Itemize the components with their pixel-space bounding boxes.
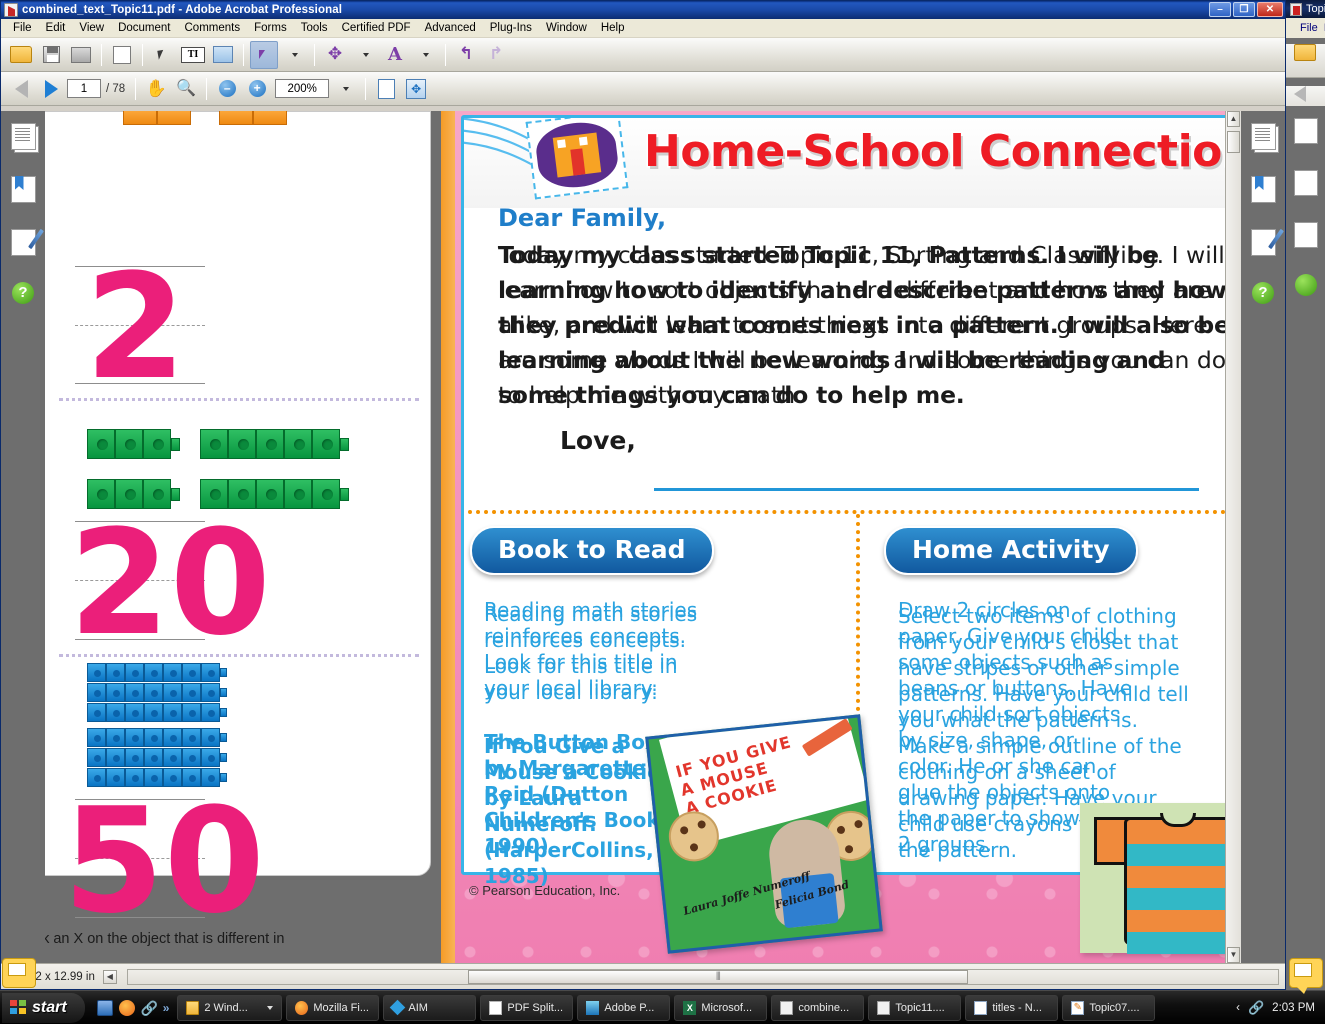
navigation-panel-rail: ?	[1, 111, 45, 963]
letter-closing: Love,	[560, 426, 636, 455]
menu-comments[interactable]: Comments	[178, 20, 248, 36]
traced-number: 50	[63, 789, 265, 934]
chevron-more-icon[interactable]: »	[163, 1002, 170, 1014]
green-cube	[312, 429, 340, 459]
blue-cube-nub	[220, 668, 227, 677]
save-button[interactable]	[37, 41, 65, 69]
document-area: ? ?	[1, 111, 1285, 963]
blue-cube	[144, 728, 163, 747]
traced-number: 2	[85, 255, 186, 400]
undo-arrow-icon: ↰	[459, 46, 473, 63]
home-activity-body: Draw 2 circles on paper. Give your child…	[884, 597, 1241, 847]
menu-advanced[interactable]: Advanced	[418, 20, 483, 36]
menu-help[interactable]: Help	[594, 20, 632, 36]
orange-cube	[219, 111, 253, 125]
page-icon	[378, 79, 395, 99]
blue-cube	[125, 683, 144, 702]
taskbar-item-label: PDF Split...	[507, 1002, 563, 1014]
green-cube	[256, 429, 284, 459]
pdf-right-page: Home-School Connection Dear Family, Toda…	[441, 111, 1241, 963]
bookmarks-panel-icon[interactable]	[11, 176, 36, 203]
zoom-level-input[interactable]	[275, 79, 329, 98]
taskbar-item-label: 2 Wind...	[204, 1002, 247, 1014]
page-title: Home-School Connection	[644, 126, 1241, 177]
blue-cube-row	[87, 683, 227, 702]
blue-cube	[163, 748, 182, 767]
blue-cube	[125, 728, 144, 747]
blue-cube-nub	[220, 733, 227, 742]
taskbar-item-label: combine...	[798, 1002, 849, 1014]
letter-paragraph-2: Today my class started Topic 11, Pattern…	[498, 238, 1240, 413]
redo-arrow-icon: ↱	[489, 46, 503, 63]
fit-page-button[interactable]: ✥	[402, 75, 430, 103]
printer-icon	[71, 47, 91, 63]
windows-flag-icon	[10, 1000, 27, 1015]
book-to-read-section: Book to Read Reading math stories reinfo…	[470, 526, 852, 847]
chevron-down-icon	[363, 53, 369, 57]
green-cube-nub	[171, 438, 180, 451]
notification-balloon[interactable]	[1289, 958, 1323, 988]
taskbar-item-pdf-split[interactable]: PDF Split...	[480, 995, 573, 1021]
orange-cube	[157, 111, 191, 125]
signatures-panel-icon[interactable]	[1294, 222, 1318, 248]
book-intro-text-2: Reading math stories reinforces concepts…	[484, 601, 724, 705]
arrow-cursor-icon	[157, 49, 168, 60]
pages-panel-icon[interactable]	[1251, 123, 1276, 150]
statusbar: 10.92 x 12.99 in ◀	[1, 963, 1285, 989]
toolbar-main[interactable]: TI ✥ A	[1, 38, 1285, 72]
orange-cube-group-2	[219, 111, 287, 125]
blue-cube	[201, 663, 220, 682]
arrow-left-icon	[15, 80, 28, 98]
chevron-down-icon	[292, 53, 298, 57]
background-menu-file[interactable]: File	[1300, 22, 1318, 34]
window-controls: – ❐ ✕	[1209, 2, 1283, 17]
blue-cube	[144, 703, 163, 722]
print-button[interactable]	[67, 41, 95, 69]
acrobat-window: combined_text_Topic11.pdf - Adobe Acroba…	[0, 0, 1286, 990]
next-page-button[interactable]	[37, 75, 65, 103]
typewriter-dropdown[interactable]	[411, 41, 439, 69]
green-cube-row-a2	[200, 429, 349, 459]
pages-panel-icon[interactable]	[1294, 118, 1318, 144]
titlebar[interactable]: combined_text_Topic11.pdf - Adobe Acroba…	[1, 1, 1285, 19]
text-select-button[interactable]: TI	[179, 41, 207, 69]
aim-icon	[390, 1000, 406, 1016]
menu-certified-pdf[interactable]: Certified PDF	[335, 20, 418, 36]
pdf-split-icon	[489, 1001, 502, 1015]
menu-file[interactable]: File	[6, 20, 39, 36]
bookmarks-panel-icon[interactable]	[1294, 170, 1318, 196]
horizontal-scroll-thumb[interactable]	[468, 970, 968, 984]
menu-plug-ins[interactable]: Plug-Ins	[483, 20, 539, 36]
select-tool-button[interactable]	[149, 41, 177, 69]
show-desktop-icon[interactable]	[97, 1000, 113, 1016]
green-cube-nub	[340, 488, 349, 501]
orange-dotted-divider-horizontal	[468, 510, 1241, 514]
menu-view[interactable]: View	[72, 20, 111, 36]
blue-cube	[163, 728, 182, 747]
orange-spine-band	[441, 111, 455, 963]
blue-cube	[125, 663, 144, 682]
taskbar-item-topic11[interactable]: Topic11....	[868, 995, 961, 1021]
green-cube	[200, 429, 228, 459]
vertical-scroll-thumb[interactable]	[1227, 131, 1240, 153]
text-select-icon: TI	[181, 47, 205, 63]
toolbar-separator	[365, 78, 366, 100]
zoom-dropdown[interactable]	[331, 75, 359, 103]
green-cube	[143, 429, 171, 459]
start-label: start	[32, 993, 67, 1023]
background-window-title: Topic	[1306, 3, 1325, 15]
toolbar-separator	[101, 44, 102, 66]
toolbar-separator	[445, 44, 446, 66]
adobe-icon	[586, 1001, 599, 1015]
book-cover-image: IF YOU GIVE A MOUSE A COOKIE	[645, 714, 883, 953]
toolbar-separator	[135, 78, 136, 100]
tshirt-illustration	[1080, 803, 1241, 953]
acrobat-icon	[1290, 3, 1302, 16]
pointer-cursor-icon	[259, 50, 269, 59]
hand-tool-button[interactable]: ✋	[142, 75, 170, 103]
blue-cube	[106, 748, 125, 767]
magnifier-icon: 🔍	[176, 80, 196, 97]
excel-icon: X	[683, 1001, 696, 1015]
firefox-icon[interactable]	[119, 1000, 135, 1016]
toolbar-separator	[314, 44, 315, 66]
taskbar-items: 2 Wind... Mozilla Fi... AIM PDF Split...…	[177, 995, 1155, 1021]
plus-icon: +	[249, 80, 266, 97]
toolbar-separator	[206, 78, 207, 100]
blue-cube	[182, 683, 201, 702]
dotted-divider	[59, 654, 419, 657]
toolbar-separator	[142, 44, 143, 66]
screen: Topic File Ed combined_text_Topic11.pdf …	[0, 0, 1325, 1024]
folder-group-icon	[186, 1001, 199, 1015]
typewriter-button[interactable]: A	[381, 41, 409, 69]
start-button[interactable]: start	[2, 993, 85, 1023]
background-window-menubar[interactable]: File Ed	[1286, 18, 1325, 38]
taskbar-item-titles[interactable]: titles - N...	[965, 995, 1058, 1021]
blue-cube	[125, 703, 144, 722]
blue-cube-row	[87, 748, 227, 767]
copyright-notice: © Pearson Education, Inc.	[469, 883, 620, 898]
home-activity-section: Home Activity Draw 2 circles on paper. G…	[884, 526, 1241, 847]
dotted-divider	[59, 398, 419, 401]
left-page-instruction: n mark an X on the object that is differ…	[45, 931, 284, 947]
book-to-read-heading: Book to Read	[470, 526, 714, 575]
background-sidebar	[1286, 106, 1325, 990]
quick-launch-bar: 🔗 »	[97, 1000, 170, 1016]
scroll-up-button[interactable]: ▲	[1227, 111, 1240, 127]
open-file-button[interactable]	[7, 41, 35, 69]
menu-document[interactable]: Document	[111, 20, 177, 36]
green-cube	[228, 429, 256, 459]
blue-cube	[125, 748, 144, 767]
green-cube	[284, 479, 312, 509]
blue-cube-row	[87, 728, 227, 747]
network-icon[interactable]: 🔗	[1248, 1000, 1264, 1016]
blue-cube	[163, 663, 182, 682]
close-button[interactable]: ✕	[1257, 2, 1283, 17]
taskbar-item-label: Microsof...	[701, 1002, 752, 1014]
taskbar-item-label: AIM	[408, 1002, 428, 1014]
green-cube	[87, 429, 115, 459]
book-to-read-body: Reading math stories reinforces concepts…	[470, 597, 852, 847]
background-window[interactable]: Topic File Ed	[1286, 0, 1325, 990]
postage-stamp-school-icon	[526, 118, 629, 199]
horizontal-scrollbar[interactable]	[127, 969, 1279, 985]
redo-button[interactable]: ↱	[482, 41, 510, 69]
tray-expand-chevron-icon[interactable]: ‹	[1236, 1002, 1240, 1014]
green-cube	[115, 429, 143, 459]
bookmarks-panel-icon[interactable]	[1251, 176, 1276, 203]
orange-cube-group-1	[123, 111, 191, 125]
help-panel-icon[interactable]	[1295, 274, 1317, 296]
pencil-edit-icon	[213, 46, 233, 63]
taskbar-item-topic07[interactable]: ✎ Topic07....	[1062, 995, 1155, 1021]
vertical-scrollbar[interactable]: ▲ ▼	[1225, 111, 1241, 963]
blue-cube	[87, 748, 106, 767]
blue-cube	[201, 683, 220, 702]
clock[interactable]: 2:03 PM	[1272, 1002, 1315, 1014]
acrobat-icon	[780, 1001, 793, 1015]
system-tray: ‹ 🔗 2:03 PM	[1236, 1000, 1325, 1016]
orange-cube	[123, 111, 157, 125]
navigation-panel-rail-right: ?	[1241, 111, 1285, 963]
taskbar-item-label: Adobe P...	[604, 1002, 654, 1014]
crop-icon	[113, 46, 131, 64]
blue-cube-nub	[220, 708, 227, 717]
blue-cube	[144, 663, 163, 682]
link-icon[interactable]: 🔗	[141, 1000, 157, 1016]
maximize-button[interactable]: ❐	[1233, 2, 1255, 17]
acrobat-icon	[4, 3, 18, 17]
hand-select-dropdown[interactable]	[280, 41, 308, 69]
notepad-icon	[974, 1001, 987, 1015]
blue-cube-row	[87, 663, 227, 682]
blue-cube	[106, 728, 125, 747]
home-activity-heading: Home Activity	[884, 526, 1138, 575]
zoom-in-button[interactable]: +	[243, 75, 271, 103]
taskbar-item-adobe[interactable]: Adobe P...	[577, 995, 670, 1021]
family-letter: Dear Family, Today my class started Topi…	[498, 204, 1240, 418]
menu-window[interactable]: Window	[539, 20, 594, 36]
blue-cube-nub	[220, 688, 227, 697]
acrobat-icon	[877, 1001, 890, 1015]
blue-cube	[106, 683, 125, 702]
signatures-panel-icon[interactable]	[1251, 229, 1276, 256]
folder-icon	[10, 46, 32, 63]
previous-page-icon[interactable]	[1294, 86, 1306, 102]
marquee-zoom-button[interactable]: 🔍	[172, 75, 200, 103]
floppy-disk-icon	[43, 46, 60, 63]
text-a-icon: A	[388, 46, 402, 64]
green-cube	[312, 479, 340, 509]
pan-and-zoom-dropdown[interactable]	[351, 41, 379, 69]
minus-icon: –	[219, 80, 236, 97]
blue-cube	[182, 748, 201, 767]
signature-line	[654, 488, 1199, 491]
firefox-icon	[295, 1001, 308, 1015]
taskbar-item-mozilla[interactable]: Mozilla Fi...	[286, 995, 379, 1021]
signatures-panel-icon[interactable]	[11, 229, 36, 256]
window-title: combined_text_Topic11.pdf - Adobe Acroba…	[22, 4, 342, 16]
blue-cube	[201, 703, 220, 722]
crop-button[interactable]	[108, 41, 136, 69]
page-number-input[interactable]	[67, 79, 101, 98]
previous-page-button[interactable]	[7, 75, 35, 103]
page-total-label: / 78	[106, 83, 125, 95]
blue-cube	[106, 703, 125, 722]
traced-number: 20	[69, 511, 271, 656]
chevron-down-icon	[423, 53, 429, 57]
green-cube	[284, 429, 312, 459]
blue-cube	[87, 703, 106, 722]
menu-forms[interactable]: Forms	[247, 20, 294, 36]
edit-document-button[interactable]	[209, 41, 237, 69]
undo-button[interactable]: ↰	[452, 41, 480, 69]
taskbar-item-label: Topic11....	[895, 1002, 944, 1014]
blue-cube	[182, 728, 201, 747]
chevron-down-icon[interactable]	[267, 1006, 273, 1010]
taskbar-item-combined[interactable]: combine...	[771, 995, 864, 1021]
blue-cube	[144, 748, 163, 767]
blue-cube	[182, 703, 201, 722]
blue-cube	[201, 728, 220, 747]
tshirt-body	[1124, 817, 1232, 945]
taskbar-item-windows-group[interactable]: 2 Wind...	[177, 995, 282, 1021]
help-panel-icon[interactable]: ?	[12, 282, 34, 304]
orange-cube	[253, 111, 287, 125]
hand-select-button[interactable]	[250, 41, 278, 69]
blue-cube-row	[87, 703, 227, 722]
wordpad-icon: ✎	[1071, 1001, 1084, 1015]
pdf-page-view[interactable]: 2	[45, 111, 1241, 963]
card-header: Home-School Connection	[464, 118, 1241, 208]
taskbar-item-label: Topic07....	[1089, 1002, 1139, 1014]
notification-balloon-left[interactable]	[2, 958, 36, 988]
blue-cube	[87, 663, 106, 682]
background-window-titlebar[interactable]: Topic	[1286, 0, 1325, 18]
blue-cube	[87, 683, 106, 702]
home-school-card: Home-School Connection Dear Family, Toda…	[461, 115, 1241, 875]
menu-tools[interactable]: Tools	[294, 20, 335, 36]
taskbar-item-label: titles - N...	[992, 1002, 1042, 1014]
blue-cube	[87, 728, 106, 747]
green-cube-nub	[340, 438, 349, 451]
taskbar: start 🔗 » 2 Wind... Mozilla Fi... AIM	[0, 990, 1325, 1024]
chevron-down-icon	[343, 87, 349, 91]
fit-page-icon: ✥	[406, 79, 426, 99]
background-toolbar-row-1[interactable]	[1286, 44, 1325, 78]
blue-cube	[144, 683, 163, 702]
move-arrows-icon: ✥	[328, 46, 342, 63]
blue-cube	[163, 703, 182, 722]
zoom-out-button[interactable]: –	[213, 75, 241, 103]
blue-cube	[106, 663, 125, 682]
blue-cube	[163, 683, 182, 702]
single-page-view-button[interactable]	[372, 75, 400, 103]
taskbar-item-microsoft[interactable]: X Microsof...	[674, 995, 767, 1021]
green-cube-row-a1	[87, 429, 180, 459]
blue-cube	[201, 748, 220, 767]
open-file-icon[interactable]	[1294, 44, 1316, 61]
pdf-left-page: 2	[45, 111, 437, 963]
letter-salutation: Dear Family,	[498, 204, 1240, 232]
menubar[interactable]: File Edit View Document Comments Forms T…	[1, 19, 1285, 38]
menu-edit[interactable]: Edit	[39, 20, 73, 36]
blue-cube	[182, 663, 201, 682]
arrow-right-icon	[45, 80, 58, 98]
taskbar-item-label: Mozilla Fi...	[313, 1002, 369, 1014]
scroll-down-button[interactable]: ▼	[1227, 947, 1240, 963]
hand-icon: ✋	[146, 80, 167, 97]
letter-body: Today my class started Topic 11, Sorting…	[498, 238, 1240, 418]
toolbar-separator	[243, 44, 244, 66]
toolbar-navigation[interactable]: / 78 ✋ 🔍 – + ✥	[1, 72, 1285, 106]
pages-panel-icon[interactable]	[11, 123, 36, 150]
blue-cube-nub	[220, 753, 227, 762]
scroll-left-button[interactable]: ◀	[103, 970, 117, 984]
pan-and-zoom-button[interactable]: ✥	[321, 41, 349, 69]
help-panel-icon[interactable]: ?	[1252, 282, 1274, 304]
taskbar-item-aim[interactable]: AIM	[383, 995, 476, 1021]
minimize-button[interactable]: –	[1209, 2, 1231, 17]
